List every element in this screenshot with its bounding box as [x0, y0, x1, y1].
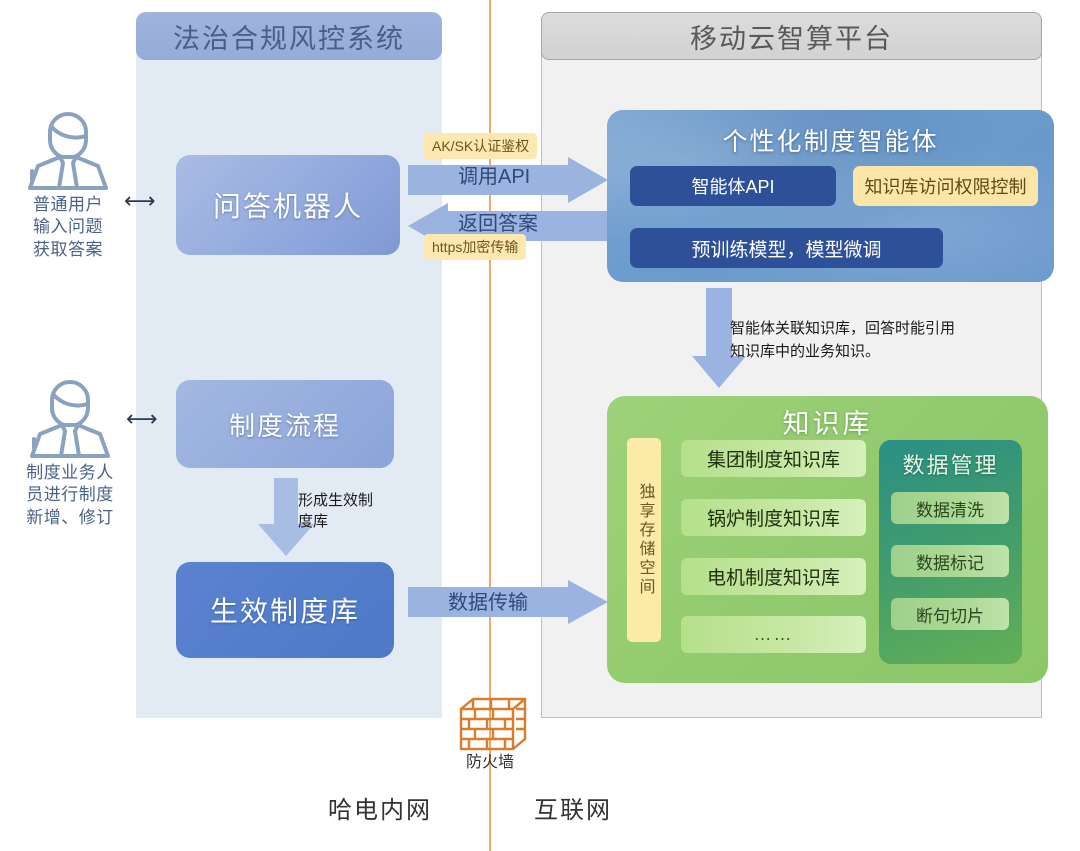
bidirectional-arrow-staff: ⟷ — [126, 406, 158, 432]
agent-api-pill[interactable]: 智能体API — [630, 166, 836, 206]
policy-flow-box[interactable]: 制度流程 — [176, 380, 394, 468]
kb-item-more[interactable]: …… — [681, 616, 866, 653]
return-answer-label: 返回答案 — [458, 207, 538, 236]
exclusive-storage-label: 独享存储空间 — [627, 438, 661, 642]
effective-policy-library-box[interactable]: 生效制度库 — [176, 562, 394, 658]
pretrain-model-pill[interactable]: 预训练模型，模型微调 — [630, 228, 943, 268]
qa-robot-box[interactable]: 问答机器人 — [176, 155, 400, 255]
kb-item-boiler-policy[interactable]: 锅炉制度知识库 — [681, 499, 866, 536]
aksk-auth-tag: AK/SK认证鉴权 — [424, 133, 537, 159]
person-icon — [20, 104, 116, 192]
person-icon — [22, 372, 118, 460]
bidirectional-arrow-user: ⟷ — [124, 188, 156, 214]
intranet-label: 哈电内网 — [328, 790, 432, 825]
data-management-box[interactable]: 数据管理 数据清洗 数据标记 断句切片 — [879, 440, 1022, 664]
firewall-brick-icon — [447, 695, 533, 753]
kb-association-note: 智能体关联知识库，回答时能引用知识库中的业务知识。 — [730, 318, 1030, 363]
knowledge-base-box[interactable]: 知识库 独享存储空间 集团制度知识库 锅炉制度知识库 电机制度知识库 …… 数据… — [607, 396, 1048, 683]
kb-permission-control-pill[interactable]: 知识库访问权限控制 — [853, 166, 1038, 206]
ordinary-user-label: 普通用户 输入问题获取答案 — [20, 194, 116, 261]
call-api-label: 调用API — [458, 160, 530, 189]
knowledge-base-title: 知识库 — [607, 402, 1048, 441]
data-transfer-label: 数据传输 — [448, 586, 528, 615]
right-panel-title: 移动云智算平台 — [690, 17, 893, 56]
left-panel-header: 法治合规风控系统 — [136, 12, 442, 60]
data-labeling-item[interactable]: 数据标记 — [891, 545, 1009, 577]
data-cleaning-item[interactable]: 数据清洗 — [891, 492, 1009, 524]
personalized-policy-agent-box[interactable]: 个性化制度智能体 智能体API 知识库访问权限控制 预训练模型，模型微调 — [607, 110, 1054, 282]
https-encryption-tag: https加密传输 — [424, 234, 526, 260]
internet-label: 互联网 — [534, 790, 612, 825]
left-panel-title: 法治合规风控系统 — [173, 17, 405, 56]
firewall-label: 防火墙 — [449, 748, 531, 772]
kb-item-motor-policy[interactable]: 电机制度知识库 — [681, 558, 866, 595]
data-management-title: 数据管理 — [879, 448, 1022, 480]
right-panel-header: 移动云智算平台 — [541, 12, 1042, 60]
form-effective-library-label: 形成生效制度库 — [298, 490, 394, 532]
agent-title: 个性化制度智能体 — [607, 122, 1054, 158]
policy-staff-actor: 制度业务人员进行制度新增、修订 — [22, 372, 118, 529]
ordinary-user-actor: 普通用户 输入问题获取答案 — [20, 104, 116, 261]
kb-item-group-policy[interactable]: 集团制度知识库 — [681, 440, 866, 477]
sentence-slicing-item[interactable]: 断句切片 — [891, 598, 1009, 630]
policy-staff-label: 制度业务人员进行制度新增、修订 — [22, 462, 118, 529]
